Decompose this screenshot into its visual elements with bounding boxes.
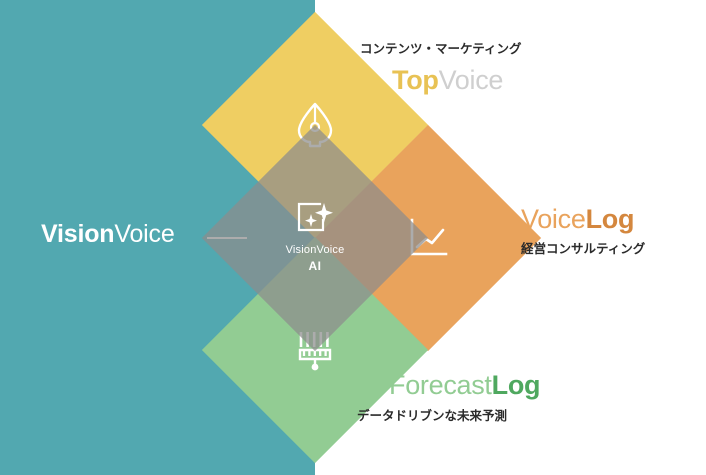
topvoice-name-bold: Top bbox=[392, 65, 439, 95]
center-node-label: VisionVoice AI bbox=[286, 243, 345, 274]
brand-lockup: VisionVoice bbox=[41, 222, 175, 247]
topvoice-tagline: コンテンツ・マーケティング bbox=[360, 42, 522, 57]
forecastlog-product-name: ForecastLog bbox=[357, 370, 540, 401]
topvoice-product-name: TopVoice bbox=[360, 65, 522, 96]
label-block-forecastlog: ForecastLog データドリブンな未来予測 bbox=[357, 370, 540, 424]
forecastlog-tagline: データドリブンな未来予測 bbox=[357, 409, 540, 424]
center-node-sub: AI bbox=[286, 258, 345, 274]
voicelog-tagline: 経営コンサルティング bbox=[521, 242, 645, 257]
brand-name: VisionVoice bbox=[41, 222, 175, 247]
center-node-name: VisionVoice bbox=[286, 243, 345, 258]
brand-name-light: Voice bbox=[114, 220, 174, 248]
sparkle-image-icon bbox=[296, 201, 334, 237]
voicelog-name-light: Voice bbox=[521, 204, 586, 234]
topvoice-name-light: Voice bbox=[439, 65, 504, 95]
voicelog-product-name: VoiceLog bbox=[521, 204, 645, 235]
forecastlog-name-light: Forecast bbox=[389, 370, 492, 400]
forecastlog-name-bold: Log bbox=[492, 370, 541, 400]
brand-name-strong: Vision bbox=[41, 220, 114, 248]
diagram-canvas: VisionVoice bbox=[0, 0, 706, 475]
label-block-topvoice: コンテンツ・マーケティング TopVoice bbox=[360, 42, 522, 96]
label-block-voicelog: VoiceLog 経営コンサルティング bbox=[521, 204, 645, 257]
node-diamond-visionvoice-ai[interactable]: VisionVoice AI bbox=[202, 125, 428, 351]
voicelog-name-bold: Log bbox=[586, 204, 635, 234]
